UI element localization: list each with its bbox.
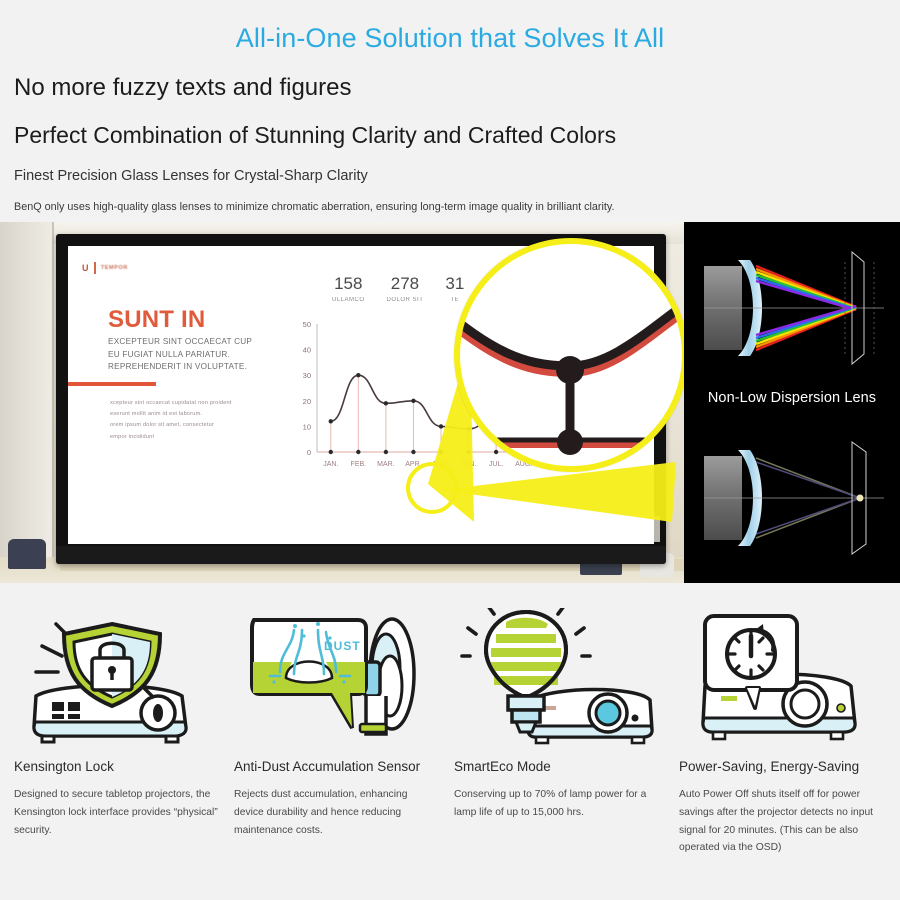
feature-title: SmartEco Mode bbox=[454, 759, 665, 775]
chart-data-point bbox=[329, 419, 333, 423]
low-dispersion-lens-diagram bbox=[684, 418, 900, 578]
features-grid: Kensington Lock Designed to secure table… bbox=[0, 583, 900, 857]
page-title: All-in-One Solution that Solves It All bbox=[14, 0, 886, 52]
feature-card-kensington-lock: Kensington Lock Designed to secure table… bbox=[14, 605, 234, 857]
slide-logo: U TEMPOR bbox=[82, 262, 128, 274]
feature-description: Conserving up to 70% of lamp power for a… bbox=[454, 786, 664, 821]
feature-title: Kensington Lock bbox=[14, 759, 220, 775]
magnifier-loupe bbox=[454, 238, 684, 472]
subheading-perfect-combination: Perfect Combination of Stunning Clarity … bbox=[14, 124, 886, 147]
subheading-finest-precision: Finest Precision Glass Lenses for Crysta… bbox=[14, 169, 886, 184]
slide-body-line: orem ipsum dolor sit amet, consectetur bbox=[110, 420, 232, 431]
kpi-value: 278 bbox=[387, 274, 424, 294]
feature-card-power-saving: Power-Saving, Energy-Saving Auto Power O… bbox=[679, 605, 899, 857]
chart-y-tick: 10 bbox=[303, 422, 311, 431]
chart-y-tick: 30 bbox=[303, 371, 311, 380]
feature-description: Auto Power Off shuts itself off for powe… bbox=[679, 786, 885, 857]
chart-data-point bbox=[411, 399, 415, 403]
kpi-label: ULLAMCO bbox=[332, 297, 365, 303]
media-strip: U TEMPOR SUNT IN EXCEPTEUR SINT OCCAECAT… bbox=[0, 222, 900, 583]
feature-card-anti-dust-sensor: DUST Anti-Dust Accumulation Sensor Rejec… bbox=[234, 605, 454, 857]
slide-red-rule bbox=[68, 382, 156, 386]
lens-panel-label: Non-Low Dispersion Lens bbox=[684, 390, 900, 406]
slide-logo-divider bbox=[94, 262, 96, 274]
slide-kpi-row: 158 ULLAMCO 278 DOLOR SIT 31 TE bbox=[332, 274, 464, 303]
kpi-label: DOLOR SIT bbox=[387, 297, 424, 303]
magnifier-focus-circle bbox=[406, 462, 458, 514]
chart-data-point bbox=[356, 373, 360, 377]
slide-heading: SUNT IN bbox=[108, 306, 205, 334]
feature-description: Designed to secure tabletop projectors, … bbox=[14, 786, 220, 839]
marketing-page: All-in-One Solution that Solves It All N… bbox=[0, 0, 900, 900]
slide-caps-line: EXCEPTEUR SINT OCCAECAT CUP bbox=[108, 336, 252, 349]
slide-body-line: xcepteur sint occaecat cupidatat non pro… bbox=[110, 398, 232, 409]
wall-corner-edge bbox=[52, 222, 54, 583]
magnifier-content bbox=[460, 244, 682, 466]
room-side-wall bbox=[0, 222, 54, 583]
chart-y-tick: 20 bbox=[303, 397, 311, 406]
slide-body-text: xcepteur sint occaecat cupidatat non pro… bbox=[110, 398, 232, 443]
chart-y-tick: 0 bbox=[307, 448, 311, 457]
slide-caps-line: REPREHENDERIT IN VOLUPTATE. bbox=[108, 361, 252, 374]
header-bodytext: BenQ only uses high-quality glass lenses… bbox=[14, 202, 886, 213]
kpi-item: 278 DOLOR SIT bbox=[387, 274, 424, 303]
slide-body-line: empor incididunt bbox=[110, 432, 232, 443]
chart-data-point bbox=[439, 424, 443, 428]
chart-x-tick: MAR. bbox=[377, 461, 395, 468]
kpi-item: 158 ULLAMCO bbox=[332, 274, 365, 303]
feature-title: Power-Saving, Energy-Saving bbox=[679, 759, 885, 775]
smarteco-lightbulb-icon bbox=[454, 605, 665, 755]
bezel-bottom-bar bbox=[56, 546, 666, 564]
header-block: All-in-One Solution that Solves It All N… bbox=[0, 0, 900, 212]
slide-caps-text: EXCEPTEUR SINT OCCAECAT CUP EU FUGIAT NU… bbox=[108, 336, 252, 374]
chart-y-tick: 50 bbox=[303, 320, 311, 329]
dust-icon-label: DUST bbox=[324, 639, 361, 653]
feature-description: Rejects dust accumulation, enhancing dev… bbox=[234, 786, 440, 839]
subheading-no-fuzzy: No more fuzzy texts and figures bbox=[14, 76, 886, 100]
slide-logo-word: TEMPOR bbox=[101, 265, 128, 271]
chart-x-tick: JAN. bbox=[323, 461, 338, 468]
kpi-value: 158 bbox=[332, 274, 365, 294]
kensington-lock-icon bbox=[14, 605, 220, 755]
chart-x-tick: FEB. bbox=[351, 461, 367, 468]
chart-data-point bbox=[384, 401, 388, 405]
slide-body-line: eserunt mollit anim id est laborum. bbox=[110, 409, 232, 420]
chart-y-tick: 40 bbox=[303, 346, 311, 355]
slide-logo-mark: U bbox=[82, 263, 89, 273]
projector-screen-photo: U TEMPOR SUNT IN EXCEPTEUR SINT OCCAECAT… bbox=[0, 222, 684, 583]
lens-comparison-panel: Non-Low Dispersion Lens bbox=[684, 222, 900, 583]
non-low-dispersion-lens-diagram bbox=[684, 228, 900, 388]
chair-left bbox=[8, 539, 46, 569]
slide-caps-line: EU FUGIAT NULLA PARIATUR. bbox=[108, 349, 252, 362]
features-section: Kensington Lock Designed to secure table… bbox=[0, 583, 900, 900]
feature-card-smarteco-mode: SmartEco Mode Conserving up to 70% of la… bbox=[454, 605, 679, 857]
feature-title: Anti-Dust Accumulation Sensor bbox=[234, 759, 440, 775]
power-saving-timer-icon bbox=[679, 605, 885, 755]
anti-dust-sensor-icon: DUST bbox=[234, 605, 440, 755]
